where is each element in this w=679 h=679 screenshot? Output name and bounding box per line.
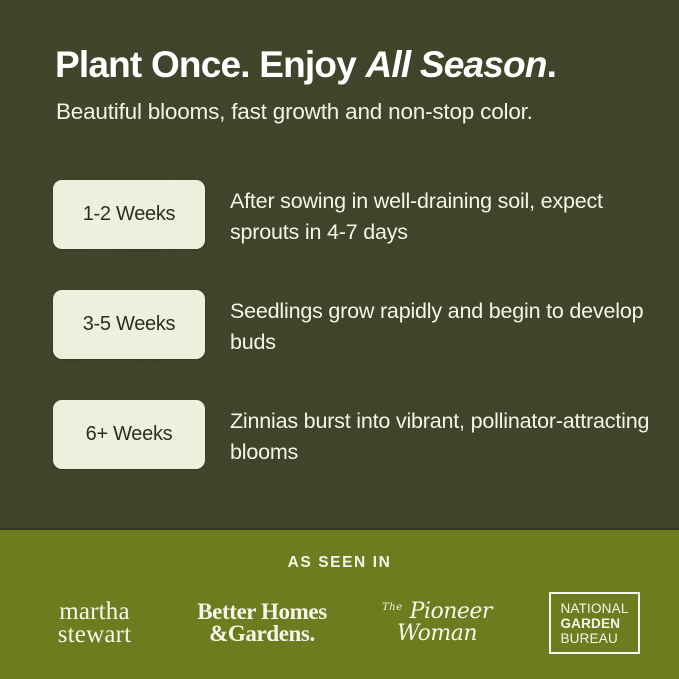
pioneer-woman-logo: The Pioneer Woman [350, 601, 525, 645]
martha-stewart-logo: martha stewart [15, 600, 175, 647]
headline-emphasis: All Season [365, 44, 546, 85]
national-garden-bureau-box: NATIONAL GARDEN BUREAU [549, 592, 639, 654]
growth-timeline-list: 1-2 Weeks After sowing in well-draining … [0, 180, 679, 510]
as-seen-in-heading: AS SEEN IN [288, 554, 392, 572]
better-homes-gardens-logo-line-1: Better Homes [197, 601, 327, 623]
better-homes-gardens-logo-line-2: &Gardens. [197, 623, 327, 645]
timeline-description-2: Seedlings grow rapidly and begin to deve… [230, 296, 650, 357]
timeline-badge-2: 3-5 Weeks [53, 290, 205, 359]
headline-part-2: . [547, 44, 556, 85]
press-logo-row: martha stewart Better Homes &Gardens. Th… [0, 592, 679, 654]
promo-poster: Plant Once. Enjoy All Season. Beautiful … [0, 0, 679, 679]
timeline-description-1: After sowing in well-draining soil, expe… [230, 186, 650, 247]
hero-section: Plant Once. Enjoy All Season. Beautiful … [0, 0, 679, 528]
ngb-logo-line-3: BUREAU [560, 631, 628, 646]
page-title: Plant Once. Enjoy All Season. [55, 44, 556, 85]
ngb-logo-line-1: NATIONAL [560, 601, 628, 616]
martha-stewart-logo-line-1: martha [58, 600, 132, 623]
badge-label: 6+ Weeks [86, 423, 173, 446]
better-homes-gardens-logo: Better Homes &Gardens. [175, 601, 350, 645]
pioneer-woman-logo-the: The [382, 603, 403, 613]
badge-label: 3-5 Weeks [83, 313, 176, 336]
page-subtitle: Beautiful blooms, fast growth and non-st… [56, 98, 533, 125]
pioneer-woman-logo-line-2: Woman [397, 621, 477, 646]
national-garden-bureau-logo: NATIONAL GARDEN BUREAU [525, 592, 665, 654]
timeline-badge-1: 1-2 Weeks [53, 180, 205, 249]
list-item: 3-5 Weeks Seedlings grow rapidly and beg… [0, 290, 679, 400]
list-item: 6+ Weeks Zinnias burst into vibrant, pol… [0, 400, 679, 510]
timeline-badge-3: 6+ Weeks [53, 400, 205, 469]
martha-stewart-logo-line-2: stewart [58, 623, 132, 646]
list-item: 1-2 Weeks After sowing in well-draining … [0, 180, 679, 290]
badge-label: 1-2 Weeks [83, 203, 176, 226]
timeline-description-3: Zinnias burst into vibrant, pollinator-a… [230, 406, 650, 467]
ngb-logo-line-2: GARDEN [560, 616, 628, 631]
as-seen-in-footer: AS SEEN IN martha stewart Better Homes &… [0, 528, 679, 679]
headline-part-1: Plant Once. Enjoy [55, 44, 365, 85]
